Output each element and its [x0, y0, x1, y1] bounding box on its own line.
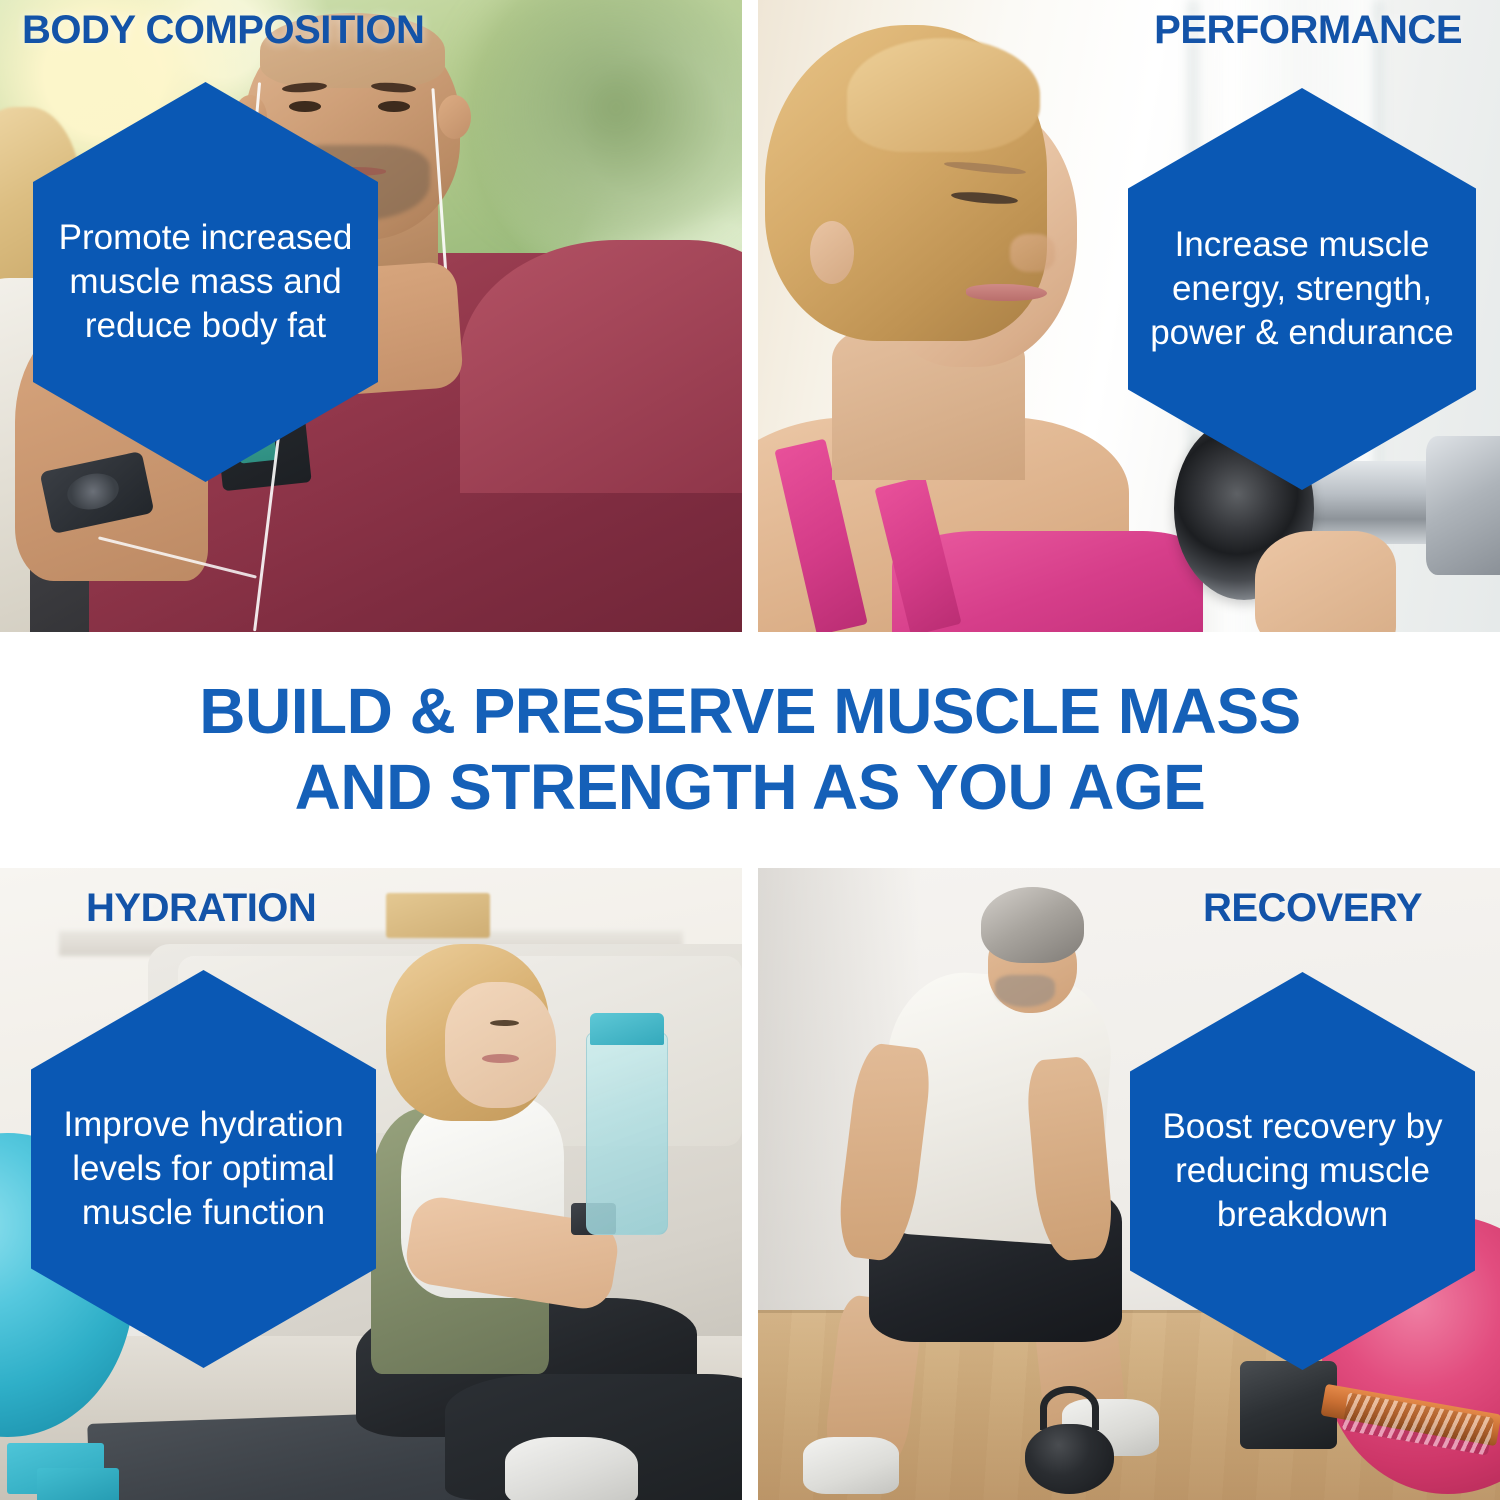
teal-water-bottle: [586, 1032, 668, 1234]
shelf-box: [386, 893, 490, 937]
woman-lips: [966, 284, 1048, 300]
headline-line-1: BUILD & PRESERVE MUSCLE MASS: [199, 674, 1300, 750]
teal-dumbbell-2: [37, 1468, 119, 1500]
hexagon-text-recovery: Boost recovery by reducing muscle breakd…: [1130, 1105, 1475, 1237]
man-right-ear: [438, 95, 471, 139]
hexagon-text-body-composition: Promote increased muscle mass and reduce…: [33, 216, 378, 348]
panel-recovery: RECOVERY Boost recovery by reducing musc…: [758, 868, 1500, 1500]
headline-band: BUILD & PRESERVE MUSCLE MASS AND STRENGT…: [0, 632, 1500, 868]
man-left-sneaker: [803, 1437, 899, 1494]
headline-line-2: AND STRENGTH AS YOU AGE: [295, 750, 1206, 826]
water-bottle-cap: [590, 1013, 664, 1045]
woman-hair-fringe: [847, 38, 1040, 152]
man-right-eye: [378, 101, 409, 112]
man-right-shoulder: [460, 240, 742, 493]
man-grey-hair: [981, 887, 1085, 963]
hexagon-text-performance: Increase muscle energy, strength, power …: [1128, 223, 1476, 355]
woman-hand-gripping-dumbbell: [1255, 531, 1396, 632]
woman-face-profile: [445, 982, 556, 1108]
category-label-performance: PERFORMANCE: [1154, 8, 1462, 53]
infographic-page: BODY COMPOSITION Promote increased muscl…: [0, 0, 1500, 1500]
man-beard: [995, 975, 1054, 1007]
category-label-hydration: HYDRATION: [86, 886, 316, 931]
woman-sneaker: [505, 1437, 639, 1500]
panel-body-composition: BODY COMPOSITION Promote increased muscl…: [0, 0, 742, 632]
panel-hydration: HYDRATION Improve hydration levels for o…: [0, 868, 742, 1500]
category-label-recovery: RECOVERY: [1203, 886, 1422, 931]
woman-nose: [1010, 234, 1055, 272]
foliage-bokeh-top: [445, 0, 742, 253]
panel-performance: PERFORMANCE Increase muscle energy, stre…: [758, 0, 1500, 632]
man-left-eye: [289, 101, 320, 112]
hexagon-text-hydration: Improve hydration levels for optimal mus…: [31, 1103, 376, 1235]
kettlebell-body: [1025, 1424, 1114, 1494]
category-label-body-composition: BODY COMPOSITION: [22, 8, 424, 53]
dumbbell-plate-far: [1426, 436, 1500, 575]
woman-eye-profile: [490, 1020, 520, 1026]
